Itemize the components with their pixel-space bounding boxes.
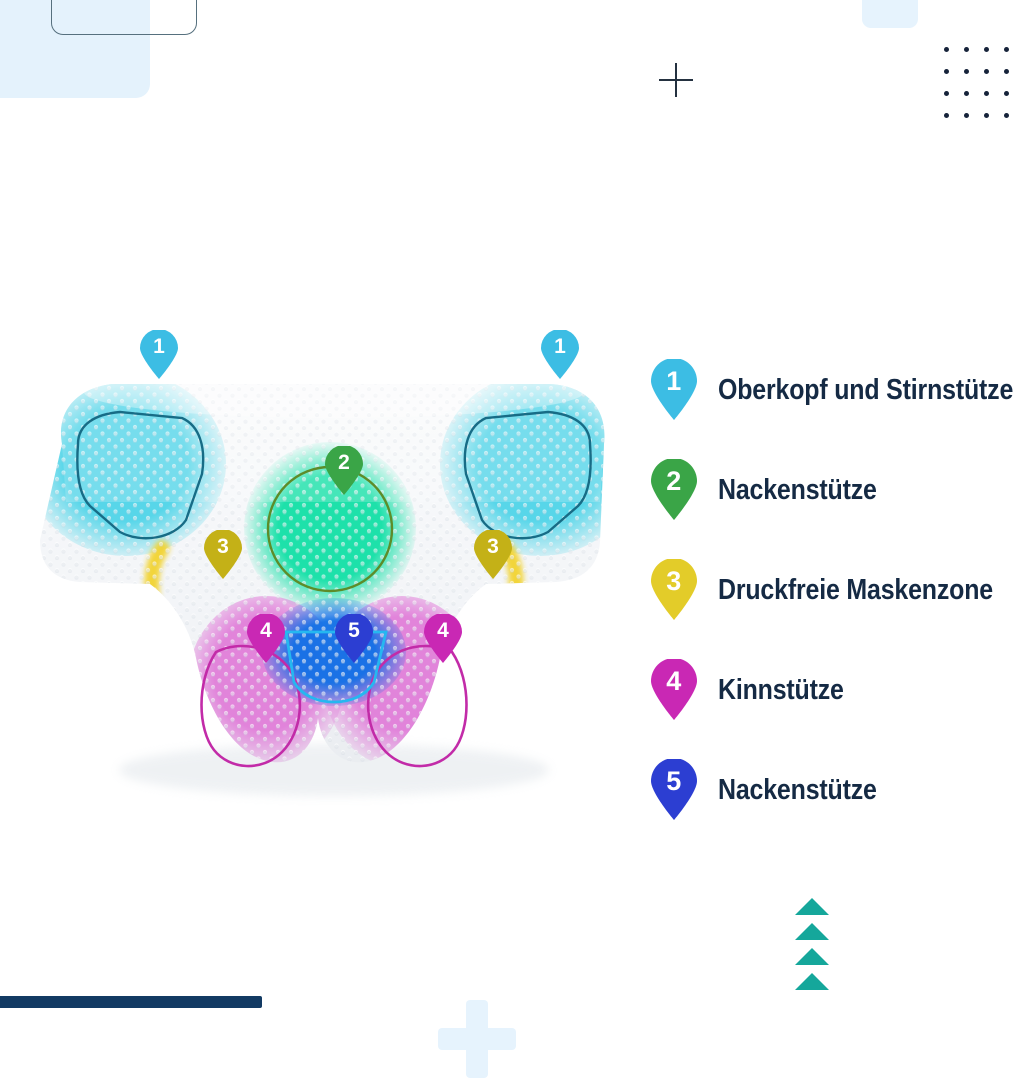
pillow-marker-4-left-number: 4 [245,619,287,643]
legend-label-3: Druckfreie Maskenzone [718,574,993,607]
grid-dot [1004,69,1009,74]
rounded-rect-decoration [862,0,918,28]
grid-dot [984,91,989,96]
pillow-marker-1-left-number: 1 [138,335,180,359]
outlined-rectangle-decoration [51,0,197,35]
pillow-marker-4-right: 4 [422,614,464,664]
legend-number-3: 3 [648,566,700,597]
pillow-marker-2: 2 [323,446,365,496]
grid-dot [1004,113,1009,118]
map-pin-icon-1: 1 [648,359,700,421]
zone-legend: 1 Oberkopf und Stirnstütze 2 Nackenstütz… [648,340,1024,840]
legend-number-1: 1 [648,366,700,397]
legend-number-5: 5 [648,766,700,797]
grid-dot [1004,47,1009,52]
grid-dot [944,69,949,74]
legend-item-1[interactable]: 1 Oberkopf und Stirnstütze [648,340,1024,440]
grid-dot [984,47,989,52]
legend-item-3[interactable]: 3 Druckfreie Maskenzone [648,540,1024,640]
legend-number-2: 2 [648,466,700,497]
pillow-marker-2-number: 2 [323,451,365,475]
legend-number-4: 4 [648,666,700,697]
legend-item-2[interactable]: 2 Nackenstütze [648,440,1024,540]
grid-dot [944,113,949,118]
map-pin-icon-4: 4 [648,659,700,721]
crosshair-icon [659,63,693,97]
legend-label-4: Kinnstütze [718,674,844,707]
grid-dot [964,69,969,74]
grid-dot [964,47,969,52]
pillow-marker-3-right: 3 [472,530,514,580]
pillow-marker-5-number: 5 [333,619,375,643]
pillow-marker-1-left: 1 [138,330,180,380]
pillow-marker-3-left: 3 [202,530,244,580]
triangle-stack-decoration [795,898,835,998]
grid-dot [944,47,949,52]
dot-grid-decoration [944,47,1010,119]
pillow-marker-1-right: 1 [539,330,581,380]
grid-dot [984,69,989,74]
pillow-marker-5: 5 [333,614,375,664]
cpap-pillow-illustration: 1 1 2 3 3 4 5 4 [34,352,634,812]
triangle-icon [795,923,829,940]
triangle-icon [795,948,829,965]
plus-shape-decoration [438,1000,516,1078]
pillow-body [34,352,634,812]
legend-label-1: Oberkopf und Stirnstütze [718,374,1013,407]
pillow-marker-3-left-number: 3 [202,535,244,559]
pillow-marker-4-right-number: 4 [422,619,464,643]
map-pin-icon-5: 5 [648,759,700,821]
legend-item-5[interactable]: 5 Nackenstütze [648,740,1024,840]
grid-dot [964,91,969,96]
infographic-canvas: 1 1 2 3 3 4 5 4 [0,0,1024,1070]
grid-dot [1004,91,1009,96]
pillow-marker-1-right-number: 1 [539,335,581,359]
grid-dot [984,113,989,118]
legend-item-4[interactable]: 4 Kinnstütze [648,640,1024,740]
grid-dot [964,113,969,118]
pillow-marker-4-left: 4 [245,614,287,664]
legend-label-5: Nackenstütze [718,774,877,807]
map-pin-icon-2: 2 [648,459,700,521]
pillow-marker-3-right-number: 3 [472,535,514,559]
legend-label-2: Nackenstütze [718,474,877,507]
map-pin-icon-3: 3 [648,559,700,621]
grid-dot [944,91,949,96]
triangle-icon [795,898,829,915]
triangle-icon [795,973,829,990]
navy-bar-decoration [0,996,262,1008]
